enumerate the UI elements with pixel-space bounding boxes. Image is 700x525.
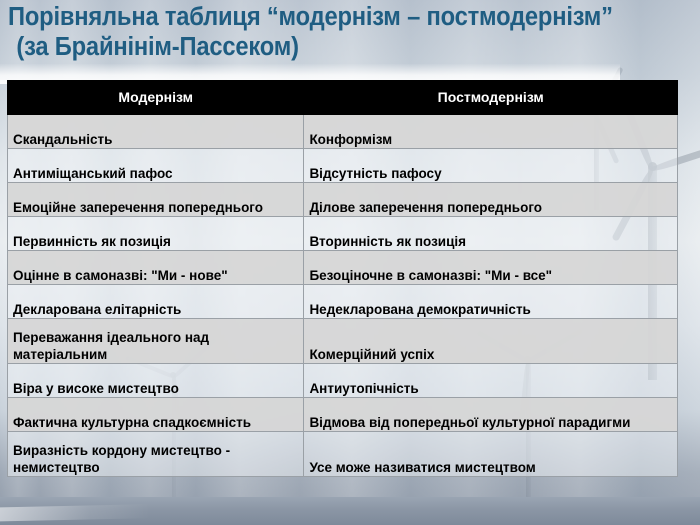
cell-text: Емоційне заперечення попереднього	[13, 199, 298, 216]
cell-text: Антиутопічність	[309, 380, 672, 397]
slide-canvas: Порівняльна таблиця “модернізм – постмод…	[0, 0, 700, 525]
cell-text: Первинність як позиція	[13, 233, 298, 250]
column-header-modernism: Модернізм	[8, 81, 304, 115]
cell-text: Переважання ідеального над матеріальним	[13, 329, 298, 363]
cell-text: Виразність кордону мистецтво - немистецт…	[13, 442, 298, 476]
cell-text: Вторинність як позиція	[309, 233, 672, 250]
cell-text: Скандальність	[13, 131, 298, 148]
cell-modernism: Первинність як позиція	[8, 217, 304, 251]
table-row: СкандальністьКонформізм	[8, 115, 678, 149]
column-header-postmodernism: Постмодернізм	[304, 81, 678, 115]
cell-modernism: Фактична культурна спадкоємність	[8, 398, 304, 432]
cell-modernism: Декларована елітарність	[8, 285, 304, 319]
cell-text: Декларована елітарність	[13, 301, 298, 318]
cell-postmodernism: Відсутність пафосу	[304, 149, 678, 183]
background-bottom-band	[0, 497, 700, 525]
table-row: Емоційне заперечення попередньогоДілове …	[8, 183, 678, 217]
cell-modernism: Емоційне заперечення попереднього	[8, 183, 304, 217]
cell-postmodernism: Антиутопічність	[304, 364, 678, 398]
cell-text: Відсутність пафосу	[309, 165, 672, 182]
cell-modernism: Виразність кордону мистецтво - немистецт…	[8, 432, 304, 477]
table-row: Фактична культурна спадкоємністьВідмова …	[8, 398, 678, 432]
cell-postmodernism: Ділове заперечення попереднього	[304, 183, 678, 217]
slide-title: Порівняльна таблиця “модернізм – постмод…	[8, 2, 692, 62]
cell-postmodernism: Комерційний успіх	[304, 319, 678, 364]
cell-postmodernism: Безоціночне в самоназві: "Ми - все"	[304, 251, 678, 285]
cell-text: Віра у високе мистецтво	[13, 380, 298, 397]
cell-postmodernism: Вторинність як позиція	[304, 217, 678, 251]
cell-modernism: Віра у високе мистецтво	[8, 364, 304, 398]
table-row: Декларована елітарністьНедекларована дем…	[8, 285, 678, 319]
cell-text: Відмова від попередньої культурної парад…	[309, 414, 672, 431]
cell-postmodernism: Відмова від попередньої культурної парад…	[304, 398, 678, 432]
background-road-streak	[0, 493, 700, 522]
table-row: Віра у високе мистецтвоАнтиутопічність	[8, 364, 678, 398]
cell-text: Оцінне в самоназві: "Ми - нове"	[13, 267, 298, 284]
table-header-row: Модернізм Постмодернізм	[8, 81, 678, 115]
cell-text: Недекларована демократичність	[309, 301, 672, 318]
cell-postmodernism: Усе може називатися мистецтвом	[304, 432, 678, 477]
cell-text: Комерційний успіх	[309, 346, 672, 363]
comparison-table: Модернізм Постмодернізм СкандальністьКон…	[7, 80, 678, 477]
cell-postmodernism: Недекларована демократичність	[304, 285, 678, 319]
title-line-2: (за Брайнінім-Пассеком)	[8, 32, 644, 62]
table-row: Переважання ідеального над матеріальнимК…	[8, 319, 678, 364]
table-header: Модернізм Постмодернізм	[8, 81, 678, 115]
cell-text: Антиміщанський пафос	[13, 165, 298, 182]
cell-text: Ділове заперечення попереднього	[309, 199, 672, 216]
cell-modernism: Переважання ідеального над матеріальним	[8, 319, 304, 364]
cell-text: Конформізм	[309, 131, 672, 148]
table-row: Антиміщанський пафосВідсутність пафосу	[8, 149, 678, 183]
table-row: Оцінне в самоназві: "Ми - нове"Безоціноч…	[8, 251, 678, 285]
table-row: Первинність як позиціяВторинність як поз…	[8, 217, 678, 251]
cell-text: Безоціночне в самоназві: "Ми - все"	[309, 267, 672, 284]
table-body: СкандальністьКонформізмАнтиміщанський па…	[8, 115, 678, 477]
cell-modernism: Скандальність	[8, 115, 304, 149]
cell-text: Усе може називатися мистецтвом	[309, 459, 672, 476]
cell-modernism: Антиміщанський пафос	[8, 149, 304, 183]
cell-text: Фактична культурна спадкоємність	[13, 414, 298, 431]
title-line-1: Порівняльна таблиця “модернізм – постмод…	[8, 2, 644, 32]
table-row: Виразність кордону мистецтво - немистецт…	[8, 432, 678, 477]
cell-postmodernism: Конформізм	[304, 115, 678, 149]
cell-modernism: Оцінне в самоназві: "Ми - нове"	[8, 251, 304, 285]
